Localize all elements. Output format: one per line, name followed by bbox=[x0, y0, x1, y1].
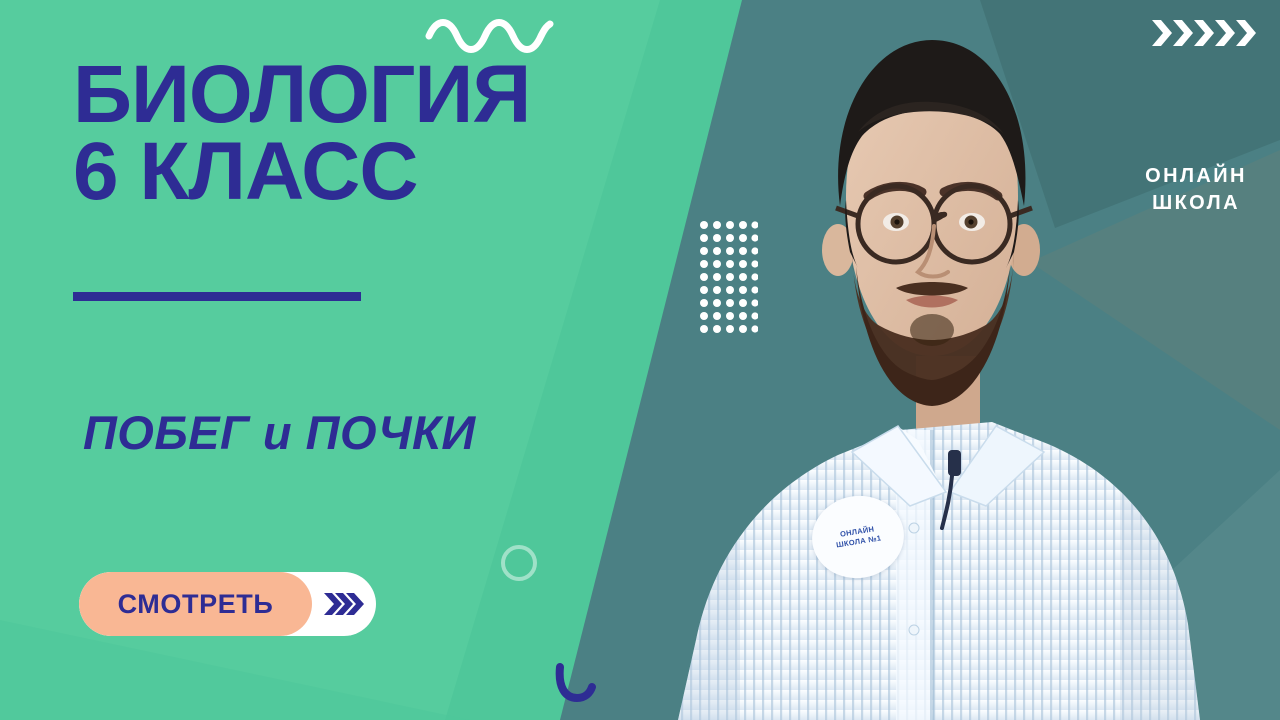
u-arc-decoration bbox=[553, 663, 597, 705]
title-divider bbox=[73, 292, 361, 301]
lesson-subtitle: ПОБЕГ и ПОЧКИ bbox=[83, 405, 476, 460]
watch-button-fill: СМОТРЕТЬ bbox=[79, 572, 312, 636]
thumbnail-canvas: ОНЛАЙН ШКОЛА №1 bbox=[0, 0, 1280, 720]
watch-button-label: СМОТРЕТЬ bbox=[118, 589, 274, 620]
shirt-badge-text: ОНЛАЙН ШКОЛА №1 bbox=[834, 523, 882, 550]
dot-grid-decoration bbox=[700, 221, 758, 333]
page-title: БИОЛОГИЯ 6 КЛАСС bbox=[73, 56, 713, 210]
circle-outline-decoration bbox=[501, 545, 537, 581]
brand-lockup: ОНЛАЙН ШКОЛА bbox=[1128, 163, 1264, 217]
watch-button[interactable]: СМОТРЕТЬ bbox=[79, 572, 376, 636]
chevron-row-decoration bbox=[1152, 14, 1264, 52]
title-block: БИОЛОГИЯ 6 КЛАСС bbox=[73, 56, 713, 210]
double-chevron-right-icon bbox=[312, 590, 376, 618]
